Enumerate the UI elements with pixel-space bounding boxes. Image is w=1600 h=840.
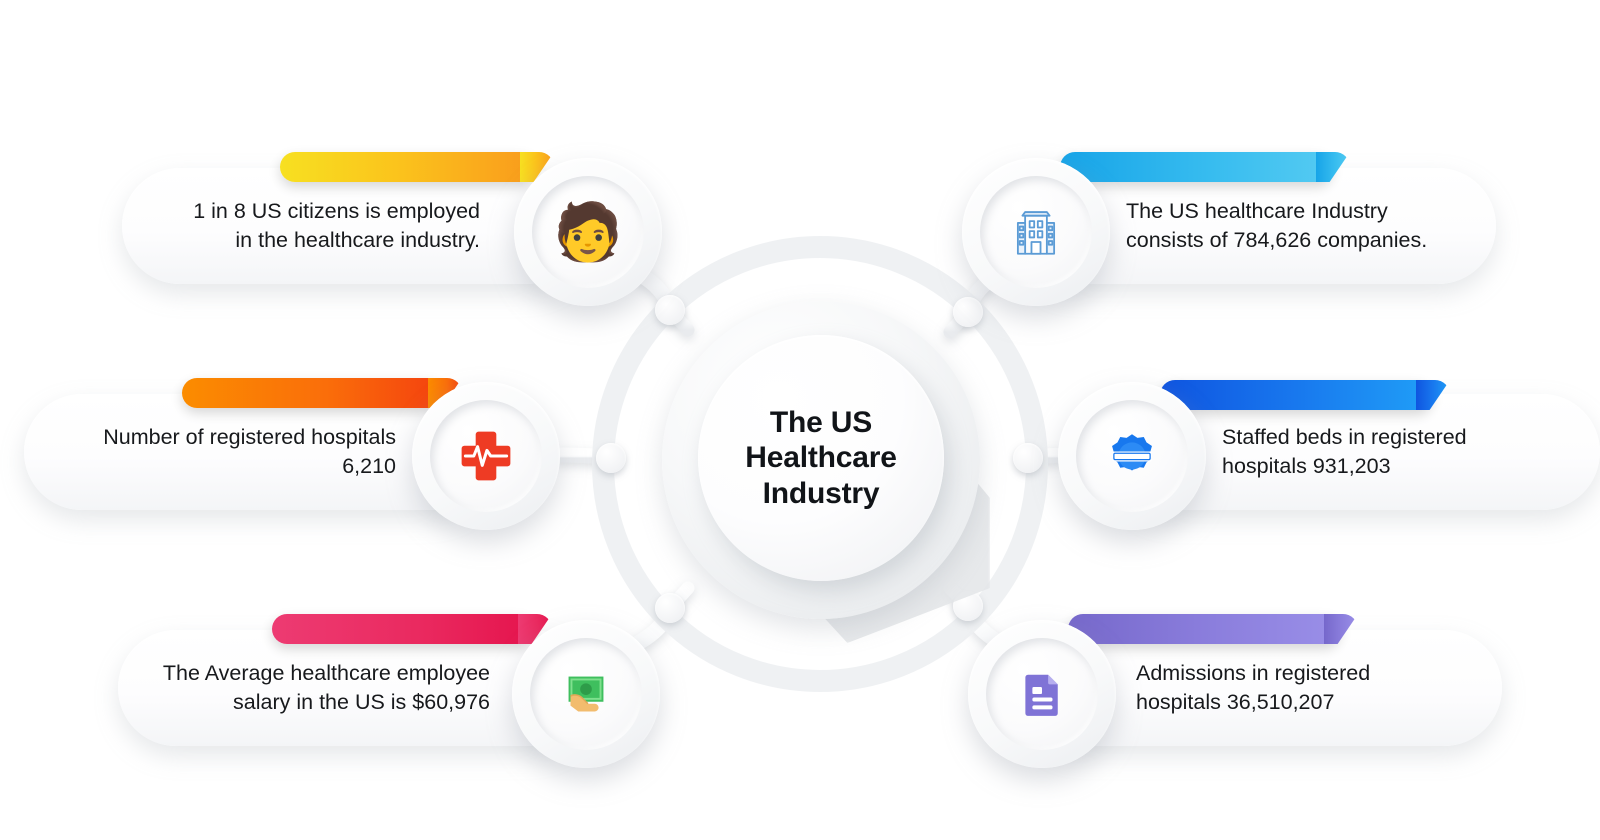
hospital-bed-badge-icon — [1103, 427, 1161, 485]
document-report-icon — [1014, 666, 1070, 722]
connector-knob-2 — [596, 443, 626, 473]
card-companies-text: The US healthcare Industry consists of 7… — [1126, 197, 1496, 254]
card-employment-accent-bar — [280, 152, 536, 182]
card-admissions-accent-bar — [1068, 614, 1340, 644]
card-average-salary-badge-inner — [530, 638, 642, 750]
card-staffed-beds-text: Staffed beds in registered hospitals 931… — [1222, 423, 1600, 480]
central-hub: The US Healthcare Industry — [640, 283, 1000, 643]
person-emoji-icon: 🧑 — [553, 204, 623, 260]
money-in-hand-icon — [555, 663, 617, 725]
card-average-salary-text: The Average healthcare employee salary i… — [118, 659, 490, 716]
card-staffed-beds-accent-bar — [1160, 380, 1432, 410]
card-admissions-badge[interactable] — [968, 620, 1116, 768]
card-average-salary-accent-bar — [272, 614, 534, 644]
card-registered-hospitals-badge[interactable] — [412, 382, 560, 530]
card-staffed-beds-badge-inner — [1076, 400, 1188, 512]
card-registered-hospitals-badge-inner — [430, 400, 542, 512]
hub-inner-circle: The US Healthcare Industry — [698, 335, 944, 581]
card-average-salary-badge[interactable] — [512, 620, 660, 768]
card-admissions-text: Admissions in registered hospitals 36,51… — [1136, 659, 1502, 716]
connector-knob-5 — [1013, 443, 1043, 473]
card-employment-badge[interactable]: 🧑 — [514, 158, 662, 306]
card-registered-hospitals-text: Number of registered hospitals 6,210 — [24, 423, 396, 480]
medical-cross-heartbeat-icon — [456, 426, 516, 486]
hub-title: The US Healthcare Industry — [745, 405, 896, 511]
card-employment-badge-inner: 🧑 — [532, 176, 644, 288]
card-companies-accent-bar — [1060, 152, 1332, 182]
hospital-building-icon — [1007, 203, 1065, 261]
card-admissions-badge-inner — [986, 638, 1098, 750]
card-employment-text: 1 in 8 US citizens is employed in the he… — [122, 197, 480, 254]
infographic-canvas: The US Healthcare Industry 1 in 8 US cit… — [0, 0, 1600, 840]
card-companies-badge-inner — [980, 176, 1092, 288]
card-registered-hospitals-accent-bar — [182, 378, 444, 408]
card-companies-badge[interactable] — [962, 158, 1110, 306]
card-staffed-beds-badge[interactable] — [1058, 382, 1206, 530]
